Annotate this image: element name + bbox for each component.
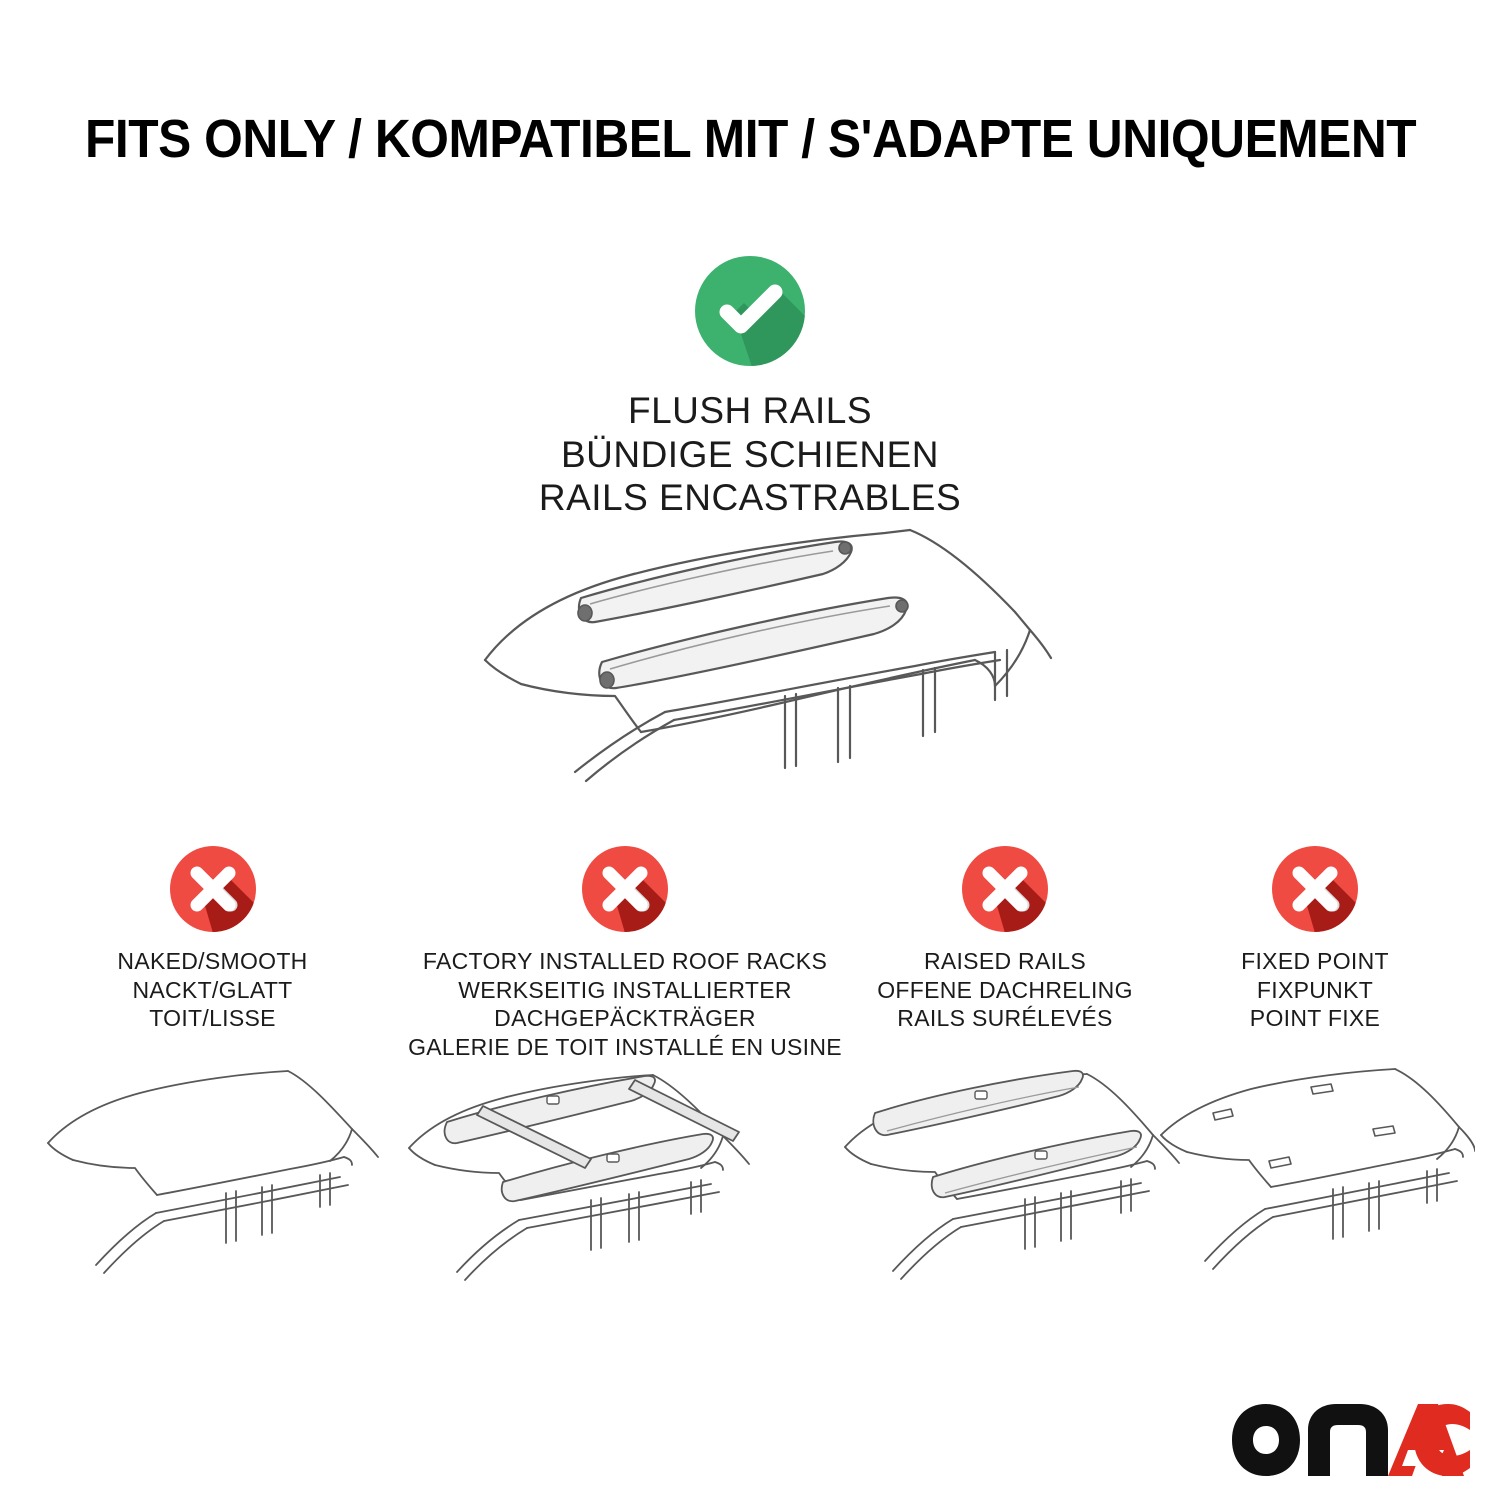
compatible-line-en: FLUSH RAILS xyxy=(0,389,1500,433)
incompatible-item-naked-smooth: NAKED/SMOOTH NACKT/GLATT TOIT/LISSE xyxy=(40,845,385,1033)
compatible-line-de: BÜNDIGE SCHIENEN xyxy=(0,433,1500,477)
label-line-fr: TOIT/LISSE xyxy=(40,1004,385,1033)
label-line-fr: POINT FIXE xyxy=(1165,1004,1465,1033)
label-line-de-2: DACHGEPÄCKTRÄGER xyxy=(395,1004,855,1033)
incompatible-label: RAISED RAILS OFFENE DACHRELING RAILS SUR… xyxy=(835,947,1175,1033)
x-circle-icon xyxy=(581,845,669,933)
compatible-section: FLUSH RAILS BÜNDIGE SCHIENEN RAILS ENCAS… xyxy=(0,255,1500,520)
car-roof-raised-rails-illustration xyxy=(835,1065,1175,1305)
car-roof-with-flush-rails-illustration xyxy=(455,500,1055,800)
incompatible-label: FACTORY INSTALLED ROOF RACKS WERKSEITIG … xyxy=(395,947,855,1061)
x-circle-icon xyxy=(1271,845,1359,933)
car-roof-naked-smooth-illustration xyxy=(40,1065,385,1300)
omac-logo: OMAC xyxy=(1232,1400,1472,1480)
incompatible-item-factory-roof-racks: FACTORY INSTALLED ROOF RACKS WERKSEITIG … xyxy=(395,845,855,1061)
car-roof-fixed-point-illustration xyxy=(1155,1065,1475,1305)
label-line-fr: RAILS SURÉLEVÉS xyxy=(835,1004,1175,1033)
fitment-infographic: FITS ONLY / KOMPATIBEL MIT / S'ADAPTE UN… xyxy=(0,0,1500,1500)
label-line-en: FIXED POINT xyxy=(1165,947,1465,976)
label-line-de: OFFENE DACHRELING xyxy=(835,976,1175,1005)
label-line-en: FACTORY INSTALLED ROOF RACKS xyxy=(395,947,855,976)
label-line-en: NAKED/SMOOTH xyxy=(40,947,385,976)
x-circle-icon xyxy=(961,845,1049,933)
incompatible-section: NAKED/SMOOTH NACKT/GLATT TOIT/LISSE xyxy=(0,845,1500,1305)
label-line-de-1: WERKSEITIG INSTALLIERTER xyxy=(395,976,855,1005)
label-line-en: RAISED RAILS xyxy=(835,947,1175,976)
label-line-de: NACKT/GLATT xyxy=(40,976,385,1005)
page-title: FITS ONLY / KOMPATIBEL MIT / S'ADAPTE UN… xyxy=(85,108,1416,170)
incompatible-item-fixed-point: FIXED POINT FIXPUNKT POINT FIXE xyxy=(1165,845,1465,1033)
incompatible-label: FIXED POINT FIXPUNKT POINT FIXE xyxy=(1165,947,1465,1033)
label-line-de: FIXPUNKT xyxy=(1165,976,1465,1005)
incompatible-item-raised-rails: RAISED RAILS OFFENE DACHRELING RAILS SUR… xyxy=(835,845,1175,1033)
label-line-fr: GALERIE DE TOIT INSTALLÉ EN USINE xyxy=(395,1033,855,1062)
car-roof-factory-roof-racks-illustration xyxy=(395,1060,855,1300)
incompatible-label: NAKED/SMOOTH NACKT/GLATT TOIT/LISSE xyxy=(40,947,385,1033)
x-circle-icon xyxy=(169,845,257,933)
check-circle-icon xyxy=(694,255,806,367)
